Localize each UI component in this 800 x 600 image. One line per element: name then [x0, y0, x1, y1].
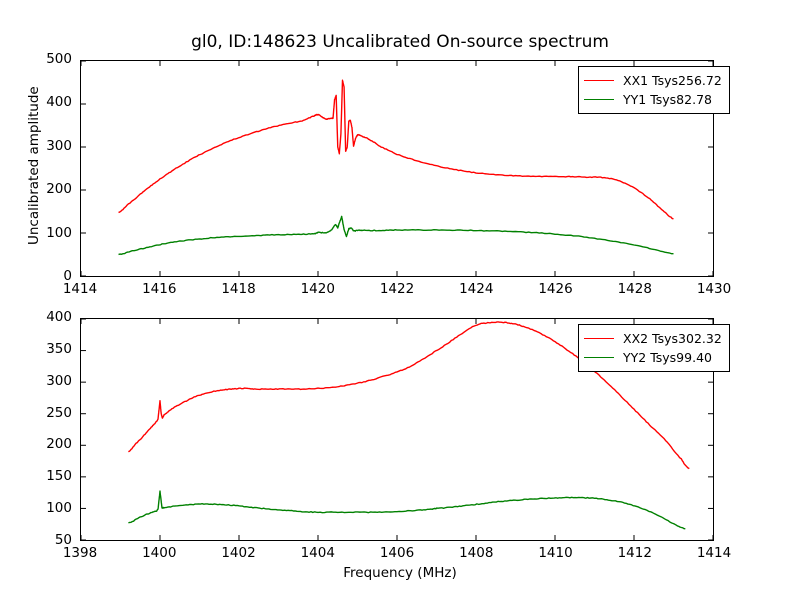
y-tick-label: 100: [28, 500, 72, 516]
y-tick-label: 300: [28, 373, 72, 389]
legend-entry: YY1 Tsys82.78: [584, 90, 722, 109]
legend-top: XX1 Tsys256.72YY1 Tsys82.78: [578, 66, 730, 114]
x-tick-label: 1400: [129, 545, 189, 561]
x-tick-label: 1410: [526, 545, 586, 561]
legend-entry: XX2 Tsys302.32: [584, 329, 722, 348]
legend-entry: YY2 Tsys99.40: [584, 348, 722, 367]
legend-color-swatch: [584, 357, 614, 358]
spectrum-trace: [128, 491, 685, 529]
x-tick-label: 1418: [209, 281, 269, 297]
y-tick-label: 350: [28, 341, 72, 357]
x-tick-label: 1416: [129, 281, 189, 297]
spectrum-trace: [119, 216, 674, 254]
y-tick-label: 400: [28, 309, 72, 325]
x-axis-label: Frequency (MHz): [0, 565, 800, 581]
x-tick-label: 1424: [446, 281, 506, 297]
x-tick-label: 1428: [605, 281, 665, 297]
legend-color-swatch: [584, 99, 614, 100]
x-tick-label: 1430: [684, 281, 744, 297]
y-tick-label: 0: [28, 268, 72, 284]
legend-label: YY2 Tsys99.40: [623, 350, 712, 365]
legend-bottom: XX2 Tsys302.32YY2 Tsys99.40: [578, 324, 730, 372]
y-tick-label: 50: [28, 532, 72, 548]
y-tick-label: 250: [28, 405, 72, 421]
x-tick-label: 1426: [526, 281, 586, 297]
x-tick-label: 1408: [446, 545, 506, 561]
y-tick-label: 150: [28, 468, 72, 484]
y-tick-label: 200: [28, 436, 72, 452]
legend-color-swatch: [584, 80, 614, 81]
x-tick-label: 1402: [209, 545, 269, 561]
x-tick-label: 1414: [684, 545, 744, 561]
x-tick-label: 1420: [288, 281, 348, 297]
spectrum-figure: gl0, ID:148623 Uncalibrated On-source sp…: [0, 0, 800, 600]
legend-label: XX1 Tsys256.72: [623, 73, 722, 88]
x-tick-label: 1406: [367, 545, 427, 561]
legend-color-swatch: [584, 338, 614, 339]
legend-label: YY1 Tsys82.78: [623, 92, 712, 107]
y-axis-label-top: Uncalibrated amplitude: [26, 86, 42, 245]
x-tick-label: 1412: [605, 545, 665, 561]
legend-label: XX2 Tsys302.32: [623, 331, 722, 346]
legend-entry: XX1 Tsys256.72: [584, 71, 722, 90]
figure-title: gl0, ID:148623 Uncalibrated On-source sp…: [0, 32, 800, 52]
x-tick-label: 1398: [50, 545, 110, 561]
x-tick-label: 1422: [367, 281, 427, 297]
y-tick-label: 500: [28, 51, 72, 67]
x-tick-label: 1414: [50, 281, 110, 297]
x-tick-label: 1404: [288, 545, 348, 561]
